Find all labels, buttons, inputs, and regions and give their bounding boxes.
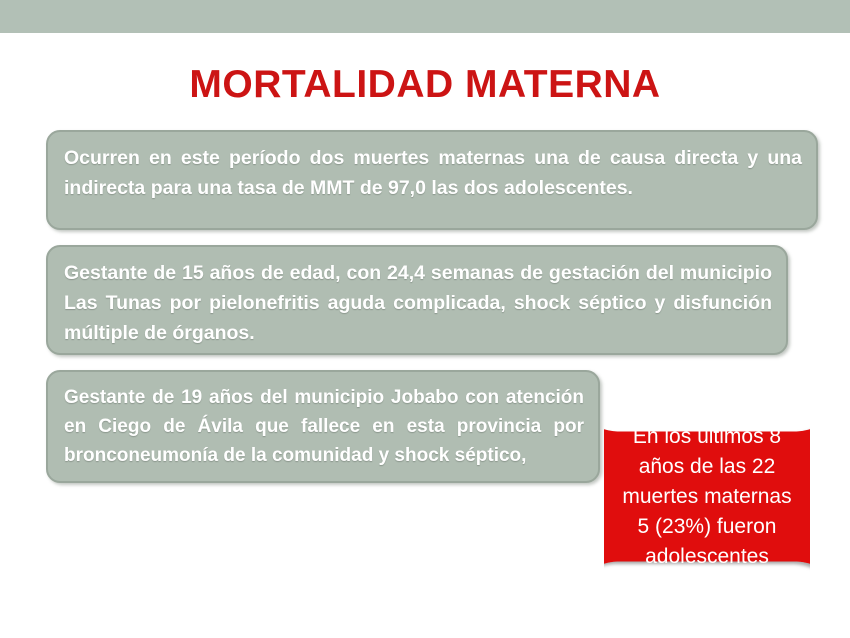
page-title: MORTALIDAD MATERNA bbox=[0, 62, 850, 108]
callout-3-text: Gestante de 19 años del municipio Jobabo… bbox=[64, 383, 584, 470]
slide-canvas: MORTALIDAD MATERNA Ocurren en este perío… bbox=[0, 0, 850, 638]
callout-box-2: Gestante de 15 años de edad, con 24,4 se… bbox=[46, 245, 788, 355]
callout-box-1: Ocurren en este período dos muertes mate… bbox=[46, 130, 818, 230]
callout-2-text: Gestante de 15 años de edad, con 24,4 se… bbox=[64, 258, 772, 348]
plaque-text-wrap: En los últimos 8 años de las 22 muertes … bbox=[604, 369, 810, 624]
plaque-text: En los últimos 8 años de las 22 muertes … bbox=[620, 422, 794, 572]
callout-1-text: Ocurren en este período dos muertes mate… bbox=[64, 143, 802, 203]
top-decorative-band bbox=[0, 0, 850, 33]
callout-box-3: Gestante de 19 años del municipio Jobabo… bbox=[46, 370, 600, 483]
red-plaque-callout: En los últimos 8 años de las 22 muertes … bbox=[604, 369, 810, 624]
